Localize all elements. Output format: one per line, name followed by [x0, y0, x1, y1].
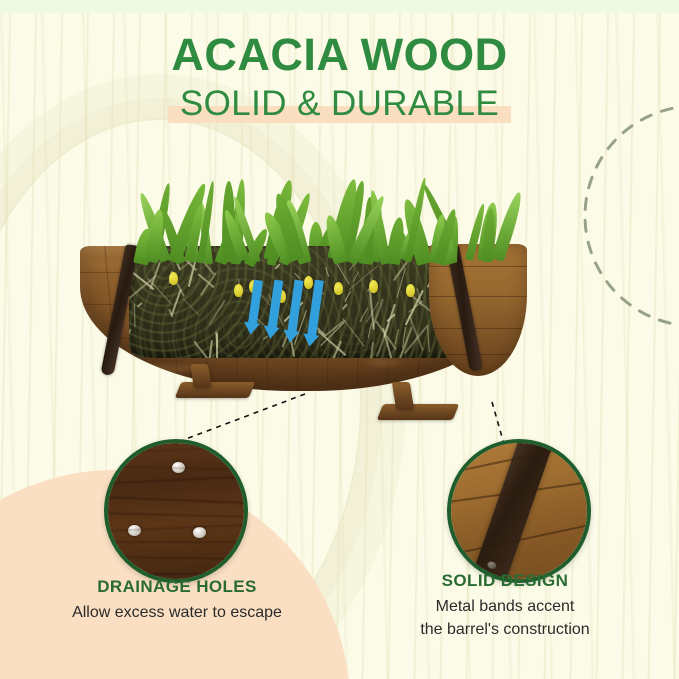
wood-grain-line	[104, 446, 248, 455]
end-cap-plank-line	[429, 328, 527, 329]
planter-foot-right	[377, 404, 459, 420]
seed-bulb	[304, 276, 313, 289]
caption-desc-solid-line2: the barrel's construction	[355, 618, 655, 641]
wood-grain-line	[104, 475, 248, 485]
band-rivet-icon	[486, 560, 497, 570]
caption-desc-solid-line1: Metal bands accent	[355, 595, 655, 618]
solid-design-wood-surface	[451, 443, 587, 579]
wood-grain-line	[104, 556, 248, 560]
end-cap-plank-line	[429, 266, 527, 267]
callout-image-drainage-holes	[104, 439, 248, 583]
caption-title-drainage: DRAINAGE HOLES	[22, 576, 332, 598]
caption-drainage-holes: DRAINAGE HOLES Allow excess water to esc…	[22, 576, 332, 624]
top-green-strip	[0, 0, 679, 13]
wood-streak	[367, 360, 399, 365]
wood-grain-line	[104, 541, 248, 543]
page-subtitle: SOLID & DURABLE	[180, 84, 499, 124]
seed-bulb	[334, 282, 343, 295]
barrel-body-group	[80, 246, 525, 391]
drainage-holes-wood-surface	[108, 443, 244, 579]
heading-block: ACACIA WOOD SOLID & DURABLE	[0, 30, 679, 124]
end-cap-plank-line	[429, 296, 527, 297]
wood-grain-line	[104, 523, 248, 532]
drainage-hole-bottom-right	[193, 527, 206, 538]
wood-grain-line	[104, 496, 248, 505]
caption-solid-design: SOLID DESIGN Metal bands accent the barr…	[355, 570, 655, 641]
planter-foot-left-riser	[190, 364, 212, 388]
seed-bulb	[406, 284, 415, 297]
seed-bulb	[234, 284, 243, 297]
wood-grain-line	[104, 512, 248, 518]
seed-bulb	[169, 272, 178, 285]
callout-image-solid-design	[447, 439, 591, 583]
page-title: ACACIA WOOD	[0, 30, 679, 80]
infographic-canvas: ACACIA WOOD SOLID & DURABLE	[0, 0, 679, 679]
seed-bulb	[369, 280, 378, 293]
caption-desc-drainage: Allow excess water to escape	[22, 601, 332, 624]
caption-title-solid: SOLID DESIGN	[355, 570, 655, 592]
